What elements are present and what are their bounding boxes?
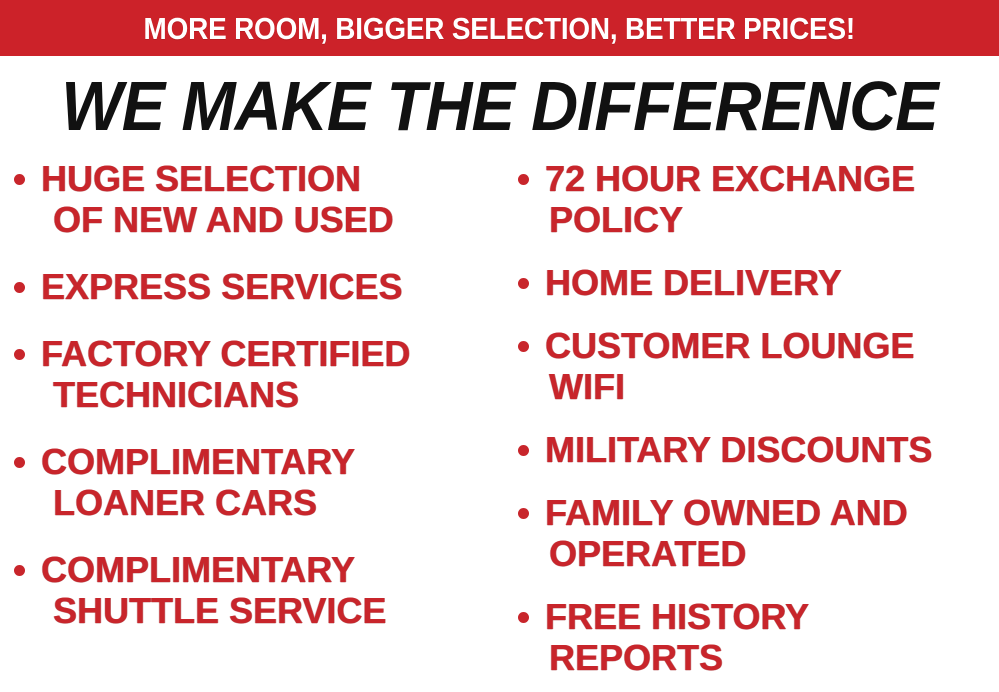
list-item-label: HOME DELIVERY bbox=[545, 262, 999, 303]
list-item-label: CUSTOMER LOUNGE WIFI bbox=[545, 325, 999, 407]
list-item-line1: FACTORY CERTIFIED bbox=[41, 333, 410, 374]
page-title: WE MAKE THE DIFFERENCE bbox=[35, 70, 964, 142]
features-column-right: 72 HOUR EXCHANGE POLICY HOME DELIVERY CU… bbox=[518, 158, 999, 692]
list-item-label: FACTORY CERTIFIED TECHNICIANS bbox=[41, 333, 500, 415]
bullet-dot-icon bbox=[518, 278, 529, 289]
list-item: 72 HOUR EXCHANGE POLICY bbox=[518, 158, 999, 240]
bullet-dot-icon bbox=[14, 565, 25, 576]
list-item-line2: TECHNICIANS bbox=[53, 374, 500, 415]
list-item-line2: WIFI bbox=[549, 366, 999, 407]
list-item: EXPRESS SERVICES bbox=[14, 266, 500, 307]
list-item-line1: FAMILY OWNED AND bbox=[545, 492, 908, 533]
bullet-dot-icon bbox=[14, 282, 25, 293]
list-item-label: FREE HISTORY REPORTS bbox=[545, 596, 999, 678]
list-item-line2: POLICY bbox=[549, 199, 999, 240]
bullet-dot-icon bbox=[518, 341, 529, 352]
promo-banner-text: MORE ROOM, BIGGER SELECTION, BETTER PRIC… bbox=[144, 13, 856, 44]
list-item-label: EXPRESS SERVICES bbox=[41, 266, 500, 307]
list-item-label: COMPLIMENTARY SHUTTLE SERVICE bbox=[41, 549, 500, 631]
bullet-dot-icon bbox=[518, 508, 529, 519]
list-item: HOME DELIVERY bbox=[518, 262, 999, 303]
list-item: FACTORY CERTIFIED TECHNICIANS bbox=[14, 333, 500, 415]
list-item-line1: CUSTOMER LOUNGE bbox=[545, 325, 914, 366]
list-item-line1: HOME DELIVERY bbox=[545, 262, 842, 303]
list-item-line2: LOANER CARS bbox=[53, 482, 500, 523]
list-item-label: COMPLIMENTARY LOANER CARS bbox=[41, 441, 500, 523]
list-item-line1: COMPLIMENTARY bbox=[41, 441, 355, 482]
list-item: COMPLIMENTARY SHUTTLE SERVICE bbox=[14, 549, 500, 631]
bullet-dot-icon bbox=[518, 612, 529, 623]
bullet-dot-icon bbox=[14, 174, 25, 185]
list-item-line1: HUGE SELECTION bbox=[41, 158, 361, 199]
list-item-line1: MILITARY DISCOUNTS bbox=[545, 429, 932, 470]
list-item: HUGE SELECTION OF NEW AND USED bbox=[14, 158, 500, 240]
list-item-line2: OF NEW AND USED bbox=[53, 199, 500, 240]
features-column-left: HUGE SELECTION OF NEW AND USED EXPRESS S… bbox=[14, 158, 500, 657]
promo-banner: MORE ROOM, BIGGER SELECTION, BETTER PRIC… bbox=[0, 0, 999, 56]
features-columns: HUGE SELECTION OF NEW AND USED EXPRESS S… bbox=[0, 158, 999, 692]
list-item: MILITARY DISCOUNTS bbox=[518, 429, 999, 470]
list-item-line1: FREE HISTORY bbox=[545, 596, 809, 637]
list-item-line1: COMPLIMENTARY bbox=[41, 549, 355, 590]
list-item: COMPLIMENTARY LOANER CARS bbox=[14, 441, 500, 523]
list-item-line2: OPERATED bbox=[549, 533, 999, 574]
bullet-dot-icon bbox=[14, 457, 25, 468]
bullet-dot-icon bbox=[518, 445, 529, 456]
list-item-line1: EXPRESS SERVICES bbox=[41, 266, 402, 307]
list-item: CUSTOMER LOUNGE WIFI bbox=[518, 325, 999, 407]
list-item-label: 72 HOUR EXCHANGE POLICY bbox=[545, 158, 999, 240]
list-item-label: MILITARY DISCOUNTS bbox=[545, 429, 999, 470]
list-item-line2: REPORTS bbox=[549, 637, 999, 678]
list-item: FAMILY OWNED AND OPERATED bbox=[518, 492, 999, 574]
list-item-line1: 72 HOUR EXCHANGE bbox=[545, 158, 915, 199]
list-item-label: FAMILY OWNED AND OPERATED bbox=[545, 492, 999, 574]
list-item-line2: SHUTTLE SERVICE bbox=[53, 590, 500, 631]
advertisement-banner: MORE ROOM, BIGGER SELECTION, BETTER PRIC… bbox=[0, 0, 999, 692]
bullet-dot-icon bbox=[518, 174, 529, 185]
list-item-label: HUGE SELECTION OF NEW AND USED bbox=[41, 158, 500, 240]
list-item: FREE HISTORY REPORTS bbox=[518, 596, 999, 678]
bullet-dot-icon bbox=[14, 349, 25, 360]
